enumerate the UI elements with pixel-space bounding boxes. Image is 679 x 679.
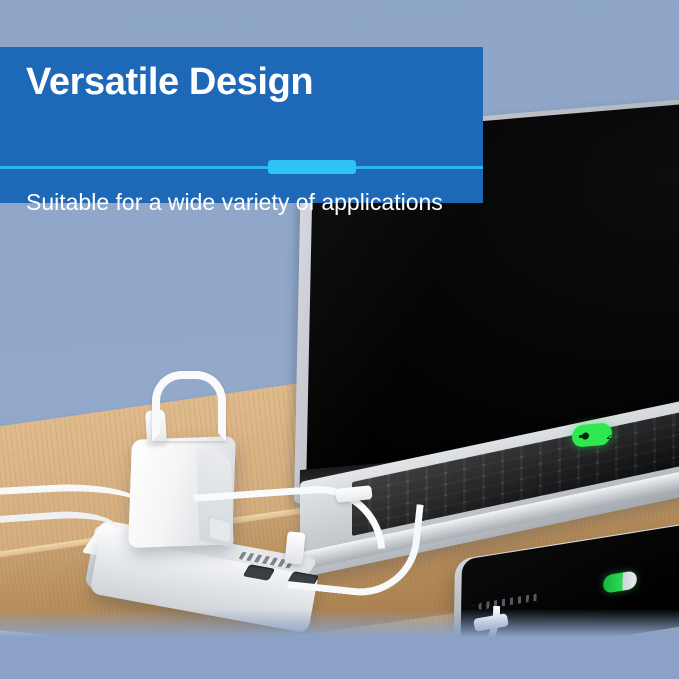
banner-title: Versatile Design <box>26 57 461 107</box>
banner-divider-accent <box>268 160 356 174</box>
floor-fade <box>0 609 679 679</box>
cable-left-run-secondary <box>0 508 121 564</box>
banner-subtitle: Suitable for a wide variety of applicati… <box>26 187 443 217</box>
usb-c-plug <box>284 531 305 565</box>
banner-divider-line <box>0 166 483 169</box>
laptop-charging-icon: ⚡ <box>572 422 612 447</box>
cable-loop <box>152 371 226 441</box>
plug-icon <box>579 431 590 441</box>
product-feature-image: ⚡ Versatile Design <box>0 0 679 679</box>
feature-banner: Versatile Design Suitable for a wide var… <box>0 47 483 203</box>
